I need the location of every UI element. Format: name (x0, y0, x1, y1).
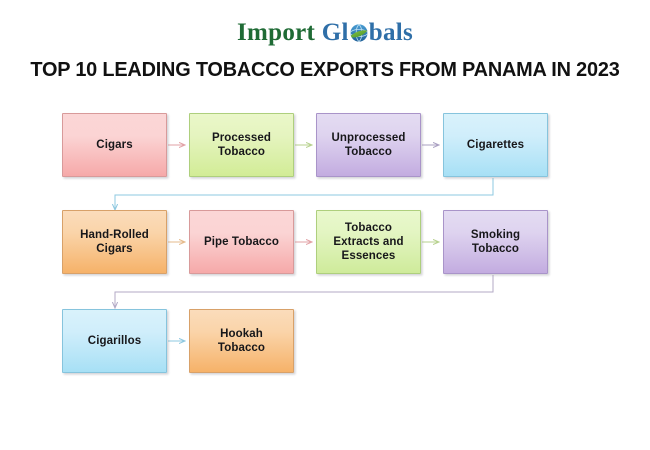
logo-text-globals-prefix: Gl (322, 19, 349, 46)
flow-node-label: Cigars (96, 138, 132, 152)
flow-node-label: Tobacco (332, 145, 406, 159)
flow-node-cigars[interactable]: Cigars (62, 113, 167, 177)
flow-node-unprocessed-tobacco[interactable]: Unprocessed Tobacco (316, 113, 421, 177)
flow-node-label: Processed (212, 131, 271, 145)
globe-icon (349, 21, 369, 41)
flow-node-label: Cigarillos (88, 334, 141, 348)
flow-node-processed-tobacco[interactable]: Processed Tobacco (189, 113, 294, 177)
flow-node-label: Essences (333, 249, 403, 263)
flow-node-label: Pipe Tobacco (204, 235, 279, 249)
flow-node-label: Tobacco (218, 341, 265, 355)
flow-node-hookah-tobacco[interactable]: Hookah Tobacco (189, 309, 294, 373)
flow-node-label: Extracts and (333, 235, 403, 249)
diagram-canvas: Import Gl bals TOP 10 LEADING TOBAC (0, 0, 650, 450)
flow-node-hand-rolled-cigars[interactable]: Hand-Rolled Cigars (62, 210, 167, 274)
flow-node-tobacco-extracts-and-essences[interactable]: Tobacco Extracts and Essences (316, 210, 421, 274)
brand-logo: Import Gl bals (0, 18, 650, 48)
flow-node-label: Hookah (218, 327, 265, 341)
flow-node-label: Tobacco (471, 242, 520, 256)
flow-node-cigarettes[interactable]: Cigarettes (443, 113, 548, 177)
flow-node-label: Hand-Rolled (80, 228, 149, 242)
arrow-cigarettes-to-hand-rolled-cigars (115, 178, 493, 210)
page-title: TOP 10 LEADING TOBACCO EXPORTS FROM PANA… (10, 58, 641, 82)
flow-node-label: Cigars (80, 242, 149, 256)
arrow-smoking-tobacco-to-cigarillos (115, 275, 493, 308)
logo-text-import: Import (237, 19, 315, 46)
logo-text-globals-suffix: bals (369, 19, 413, 46)
flow-node-label: Cigarettes (467, 138, 524, 152)
flow-node-label: Smoking (471, 228, 520, 242)
flow-node-pipe-tobacco[interactable]: Pipe Tobacco (189, 210, 294, 274)
flow-node-cigarillos[interactable]: Cigarillos (62, 309, 167, 373)
flow-node-label: Tobacco (212, 145, 271, 159)
flow-node-label: Unprocessed (332, 131, 406, 145)
flow-node-smoking-tobacco[interactable]: Smoking Tobacco (443, 210, 548, 274)
flow-node-label: Tobacco (333, 221, 403, 235)
